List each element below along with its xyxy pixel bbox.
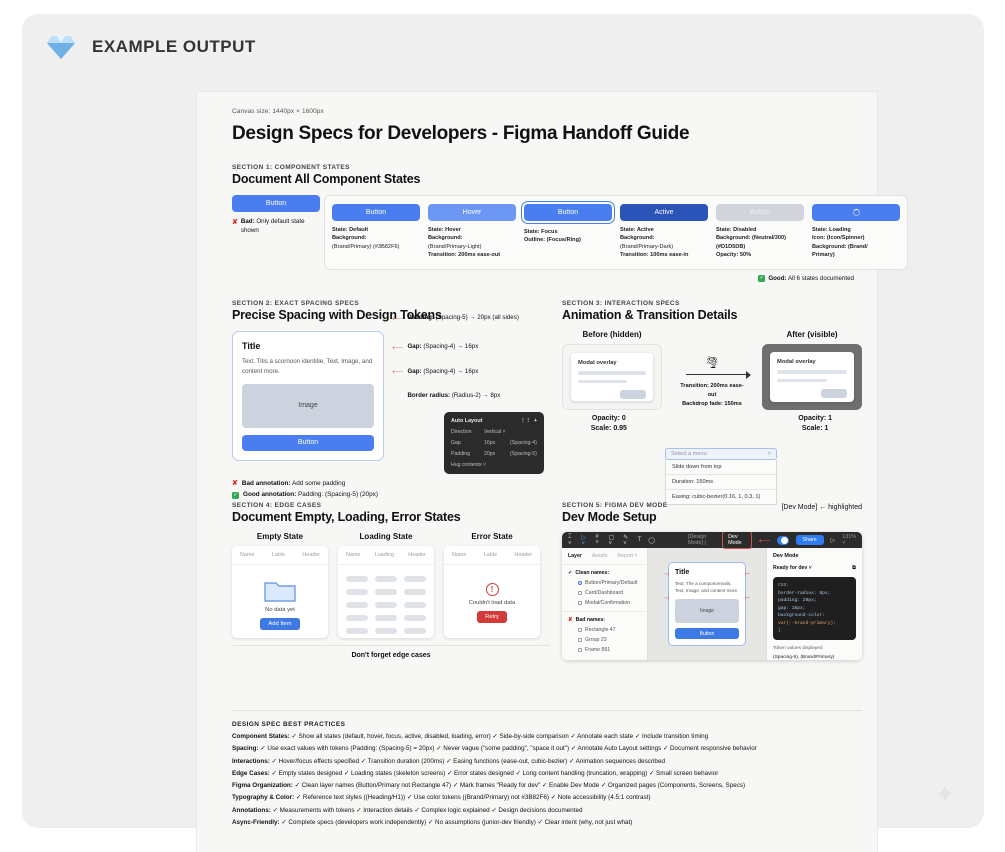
layer-item[interactable]: Frame 891 bbox=[568, 647, 641, 653]
pen-tool-icon[interactable]: ✎ ˅ bbox=[623, 534, 630, 547]
column-header: Header bbox=[302, 552, 320, 558]
state-line: Background: bbox=[332, 234, 420, 242]
al-token: (Spacing-5) bbox=[510, 451, 537, 457]
state-line: Opacity: 50% bbox=[716, 251, 804, 259]
after-opacity: Opacity: 1 bbox=[768, 414, 862, 424]
zoom-level[interactable]: 131% ˅ bbox=[842, 534, 856, 546]
annotation-text: (Spacing-5) → 20px (all sides) bbox=[436, 314, 519, 321]
inspect-panel: Dev Mode Ready for dev ˅ ⧉ CSS: border-r… bbox=[766, 548, 862, 660]
annotation-bold: Gap: bbox=[407, 368, 421, 375]
auto-layout-row: Direction Vertical ˅ bbox=[451, 429, 537, 435]
error-text: Couldn't load data bbox=[469, 600, 516, 606]
best-practice-line: Typography & Color: ✓ Reference text sty… bbox=[232, 792, 862, 804]
skeleton-bar bbox=[578, 380, 627, 384]
modal-comparison: Before (hidden) Modal overlay 🌪 bbox=[562, 330, 862, 410]
external-link-icon[interactable]: ⧉ bbox=[852, 565, 856, 572]
edge-col-empty: Empty State Name Lable Header bbox=[232, 532, 328, 638]
bad-annotation-note: ✘ Bad annotation: Add some padding bbox=[232, 478, 378, 490]
demo-card-title: Title bbox=[242, 341, 374, 351]
select-placeholder: Select a menu bbox=[671, 451, 707, 457]
annotation-row: ⟵ Gap: (Spacing-4) → 16px bbox=[392, 342, 552, 353]
add-item-button[interactable]: Add Item bbox=[260, 618, 299, 630]
figma-logo-icon[interactable]: ⌶ ˅ bbox=[568, 534, 574, 547]
section3-title: Animation & Transition Details bbox=[562, 308, 862, 322]
code-line: var(--brand-primary); bbox=[778, 620, 851, 628]
backdrop-fade: Backdrop fade: 150ms bbox=[678, 400, 746, 409]
x-mark-icon: ✘ bbox=[568, 617, 573, 623]
al-value[interactable]: Vertical ˅ bbox=[484, 429, 510, 435]
note-text: Add some padding bbox=[292, 480, 345, 487]
state-button-focus[interactable]: Button bbox=[524, 204, 612, 221]
x-mark-icon: ✘ bbox=[232, 478, 238, 490]
best-practice-line: Component States: ✓ Show all states (def… bbox=[232, 731, 862, 743]
best-practice-line: Spacing: ✓ Use exact values with tokens … bbox=[232, 743, 862, 755]
demo-card-button[interactable]: Button bbox=[242, 435, 374, 451]
skeleton-bar bbox=[777, 379, 827, 383]
best-practice-line: Figma Organization: ✓ Clean layer names … bbox=[232, 780, 862, 792]
select-option[interactable]: Slide down from top bbox=[666, 460, 776, 475]
arrow-left-icon: ⟵ bbox=[392, 366, 403, 377]
auto-layout-icons[interactable]: ⋮⋮ + bbox=[520, 418, 537, 424]
before-modal-title: Modal overlay bbox=[578, 360, 646, 366]
skeleton-row bbox=[346, 602, 426, 608]
canvas-card-text: Text. The a componormalis, Text, Image, … bbox=[675, 580, 739, 595]
al-value[interactable]: 20px bbox=[484, 451, 510, 457]
spacing-demo-card: Title Text. Titis a scornoon identitie, … bbox=[232, 331, 384, 461]
after-scale: Scale: 1 bbox=[768, 424, 862, 434]
before-label: Before (hidden) bbox=[562, 330, 662, 339]
code-line: } bbox=[778, 627, 851, 635]
canvas-size-label: Canvas size: 1440px × 1600px bbox=[197, 92, 877, 115]
table-header: Name Loading Header bbox=[338, 546, 434, 565]
section3-kicker: SECTION 3: INTERACTION SPECS bbox=[562, 300, 862, 307]
state-line: State: Default bbox=[332, 226, 420, 234]
note-bold: Bad annotation: bbox=[242, 480, 291, 487]
note-bold: Good annotation: bbox=[243, 491, 296, 498]
bad-note-bold: Bad: bbox=[241, 218, 255, 225]
check-icon: ✓ bbox=[758, 275, 765, 282]
loading-state-card: Name Loading Header bbox=[338, 546, 434, 638]
column-header: Name bbox=[346, 552, 360, 558]
select-options: Slide down from top Duration: 150ms Easi… bbox=[665, 460, 777, 505]
good-note-text: All 6 states documented bbox=[788, 275, 854, 282]
state-line: Icon: (Icon/Spinner) bbox=[812, 234, 900, 242]
section1-kicker: SECTION 1: COMPONENT STATES bbox=[232, 164, 862, 171]
state-meta-disabled: State: Disabled Background: (Neutral/300… bbox=[716, 226, 804, 260]
error-state-label: Error State bbox=[444, 532, 540, 541]
spacing-notes: ✘ Bad annotation: Add some padding ✓ Goo… bbox=[232, 478, 378, 501]
column-header: Lable bbox=[272, 552, 285, 558]
annotation-row: ⟵ Gap: (Spacing-4) → 16px bbox=[392, 366, 552, 377]
ready-for-dev-label: Ready for dev ˅ bbox=[773, 565, 812, 572]
after-modal: Modal overlay bbox=[770, 352, 854, 402]
before-modal: Modal overlay bbox=[571, 353, 653, 401]
edge-case-grid: Empty State Name Lable Header bbox=[232, 532, 550, 638]
state-button-disabled: Button bbox=[716, 204, 804, 221]
page-title: Design Specs for Developers - Figma Hand… bbox=[197, 115, 877, 145]
section-interaction-specs: SECTION 3: INTERACTION SPECS Animation &… bbox=[562, 300, 862, 434]
select-field[interactable]: Select a menu ˅ bbox=[665, 448, 777, 460]
state-button-loading[interactable] bbox=[812, 204, 900, 221]
layer-item[interactable]: Modal/Confirmation bbox=[568, 600, 641, 606]
skeleton-row bbox=[346, 628, 426, 634]
state-line: State: Loading bbox=[812, 226, 900, 234]
after-label: After (visible) bbox=[762, 330, 862, 339]
column-header: Name bbox=[452, 552, 466, 558]
canvas-card-title: Title bbox=[675, 569, 739, 576]
chevron-down-icon: ˅ bbox=[768, 451, 771, 457]
table-header: Name Lable Header bbox=[232, 546, 328, 565]
figma-toolbar: ⌶ ˅ ▷ ˅ # ˅ ▢ ˅ ✎ ˅ T ◯ [Design Mode] | … bbox=[562, 532, 862, 548]
token-note-value: (Spacing-5), (Brand/Primary) bbox=[773, 654, 856, 660]
transition-spec: Transition: 200ms ease-out Backdrop fade… bbox=[678, 382, 746, 409]
dev-mode-highlight-note: [Dev Mode] ← highlighted bbox=[781, 504, 862, 511]
state-meta-hover: State: Hover Background: (Brand/Primary-… bbox=[428, 226, 516, 260]
state-cell-disabled: Button State: Disabled Background: (Neut… bbox=[716, 204, 804, 260]
edge-cases-footer: Don't forget edge cases bbox=[232, 645, 550, 659]
arrow-left-icon: ⟵ bbox=[392, 313, 403, 324]
token-note-title: Token values displayed bbox=[773, 645, 856, 653]
figma-canvas[interactable]: ⊣ ⊣ ⊢ ⊢ Title Text. The a componormalis,… bbox=[648, 548, 766, 660]
layers-panel: Layer Assets Report ˅ ✓ Clean names: But… bbox=[562, 548, 648, 660]
layer-item[interactable]: Card/Dashboard bbox=[568, 590, 641, 596]
comment-tool-icon[interactable]: ◯ bbox=[648, 537, 655, 544]
section-component-states: SECTION 1: COMPONENT STATES Document All… bbox=[232, 164, 862, 282]
skeleton-bar bbox=[777, 370, 847, 374]
al-label: Padding bbox=[451, 451, 484, 457]
auto-layout-panel: Auto Layout ⋮⋮ + Direction Vertical ˅ Ga… bbox=[444, 412, 544, 474]
after-modal-title: Modal overlay bbox=[777, 359, 847, 365]
section1-title: Document All Component States bbox=[232, 172, 862, 186]
loading-state-label: Loading State bbox=[338, 532, 434, 541]
check-icon: ✓ bbox=[568, 570, 572, 576]
text-tool-icon[interactable]: T bbox=[638, 537, 642, 543]
error-state-card: Name Lable Header ! Couldn't load data R… bbox=[444, 546, 540, 638]
state-cell-default: Button State: Default Background: (Brand… bbox=[332, 204, 420, 260]
column-header: Name bbox=[240, 552, 254, 558]
state-line: Primary) bbox=[812, 251, 900, 259]
code-line: border-radius: 8px; bbox=[778, 590, 851, 598]
dev-mode-tab[interactable]: Dev Mode bbox=[722, 532, 752, 549]
clean-names-title: ✓ Clean names: bbox=[568, 570, 641, 576]
section4-kicker: SECTION 4: EDGE CASES bbox=[232, 502, 550, 509]
column-header: Header bbox=[514, 552, 532, 558]
skeleton-bar bbox=[578, 371, 646, 375]
move-tool-icon[interactable]: ▷ ˅ bbox=[581, 534, 588, 547]
edge-col-loading: Loading State Name Loading Header bbox=[338, 532, 434, 638]
best-practice-line: Async-Friendly: ✓ Complete specs (develo… bbox=[232, 817, 862, 829]
section4-title: Document Empty, Loading, Error States bbox=[232, 510, 550, 524]
state-line: State: Hover bbox=[428, 226, 516, 234]
best-practice-line: Interactions: ✓ Hover/focus effects spec… bbox=[232, 756, 862, 768]
annotation-text: (Radius-2) → 8px bbox=[452, 392, 501, 399]
good-note-row: ✓ Good: All 6 states documented bbox=[232, 275, 862, 282]
column-header: Loading bbox=[375, 552, 394, 558]
state-line: Background: bbox=[428, 234, 516, 242]
design-sheet: Canvas size: 1440px × 1600px Design Spec… bbox=[197, 92, 877, 852]
skeleton-row bbox=[346, 615, 426, 621]
after-modal-shell: Modal overlay bbox=[762, 344, 862, 410]
gem-icon bbox=[46, 34, 76, 60]
figma-window: ⌶ ˅ ▷ ˅ # ˅ ▢ ˅ ✎ ˅ T ◯ [Design Mode] | … bbox=[562, 532, 862, 660]
empty-state-label: Empty State bbox=[232, 532, 328, 541]
state-line: Outline: (Focus/Ring) bbox=[524, 236, 612, 244]
skeleton-row bbox=[346, 576, 426, 582]
loading-body bbox=[338, 565, 434, 638]
auto-layout-header: Auto Layout ⋮⋮ + bbox=[451, 418, 537, 424]
code-line: gap: 16px; bbox=[778, 605, 851, 613]
annotation-bold: Padding: bbox=[407, 314, 433, 321]
error-body: ! Couldn't load data Retry bbox=[444, 565, 540, 631]
annotation-row: ⟵ Padding: (Spacing-5) → 20px (all sides… bbox=[392, 313, 552, 324]
auto-layout-row: Hug contents ˅ bbox=[451, 462, 537, 468]
figma-body: Layer Assets Report ˅ ✓ Clean names: But… bbox=[562, 548, 862, 660]
column-header: Header bbox=[408, 552, 426, 558]
best-practices-section: DESIGN SPEC BEST PRACTICES Component Sta… bbox=[232, 710, 862, 829]
topbar: EXAMPLE OUTPUT bbox=[22, 14, 984, 60]
x-mark-icon: ✘ bbox=[232, 218, 238, 236]
state-line: State: Disabled bbox=[716, 226, 804, 234]
section5-title: Dev Mode Setup bbox=[562, 510, 862, 524]
state-line: Background: (Neutral/300) bbox=[716, 234, 804, 242]
al-value[interactable]: 16px bbox=[484, 440, 510, 446]
spinner-icon bbox=[853, 209, 860, 216]
al-token: (Spacing-4) bbox=[510, 440, 537, 446]
before-scale: Scale: 0.95 bbox=[562, 424, 656, 434]
state-line: Transition: 100ms ease-in bbox=[620, 251, 708, 259]
state-button-active[interactable]: Active bbox=[620, 204, 708, 221]
ready-for-dev-row[interactable]: Ready for dev ˅ ⧉ bbox=[773, 565, 856, 572]
clean-names-group: ✓ Clean names: Button/Primary/Default Ca… bbox=[562, 565, 647, 612]
app-background: EXAMPLE OUTPUT Canvas size: 1440px × 160… bbox=[22, 14, 984, 828]
measurement-marker-icon: ⊣ bbox=[664, 595, 669, 602]
auto-layout-row: Padding 20px (Spacing-5) bbox=[451, 451, 537, 457]
after-column: After (visible) Modal overlay bbox=[762, 330, 862, 410]
tab-assets[interactable]: Assets bbox=[592, 553, 608, 559]
good-note-bold: Good: bbox=[768, 275, 786, 282]
state-line: Background: (Brand/ bbox=[812, 243, 900, 251]
state-cell-focus: Button State: Focus Outline: (Focus/Ring… bbox=[524, 204, 612, 260]
arrow-left-icon: ⟵ bbox=[392, 342, 403, 353]
best-practices-heading: DESIGN SPEC BEST PRACTICES bbox=[232, 721, 862, 728]
measurement-marker-icon: ⊢ bbox=[745, 571, 750, 578]
layer-item[interactable]: Group 23 bbox=[568, 637, 641, 643]
transition-middle: 🌪 Transition: 200ms ease-out Backdrop fa… bbox=[678, 330, 746, 409]
state-meta-default: State: Default Background: (Brand/Primar… bbox=[332, 226, 420, 251]
state-line: State: Focus bbox=[524, 228, 612, 236]
layers-tabs: Layer Assets Report ˅ bbox=[562, 548, 647, 565]
folder-icon bbox=[263, 577, 297, 603]
frame-tool-icon[interactable]: # ˅ bbox=[595, 534, 601, 546]
dev-mode-toggle[interactable] bbox=[777, 536, 789, 545]
state-cell-loading: State: Loading Icon: (Icon/Spinner) Back… bbox=[812, 204, 900, 260]
modal-action-button[interactable] bbox=[821, 389, 847, 398]
state-line: State: Active bbox=[620, 226, 708, 234]
state-line: (Brand/Primary-Dark) bbox=[620, 243, 708, 251]
best-practice-line: Annotations: ✓ Measurements with tokens … bbox=[232, 805, 862, 817]
tab-layer[interactable]: Layer bbox=[568, 553, 582, 559]
section-spacing-specs: SECTION 2: EXACT SPACING SPECS Precise S… bbox=[232, 300, 550, 461]
bad-default-button[interactable]: Button bbox=[232, 195, 320, 212]
sparkle-icon: ✦ bbox=[934, 779, 956, 810]
select-option[interactable]: Duration: 150ms bbox=[666, 475, 776, 490]
arrow-left-icon: ⟵ bbox=[759, 536, 770, 545]
canvas-card-button[interactable]: Button bbox=[675, 628, 739, 639]
auto-layout-title: Auto Layout bbox=[451, 418, 482, 424]
animation-icon: 🌪 bbox=[678, 356, 746, 369]
inspect-panel-title: Dev Mode bbox=[773, 553, 856, 559]
topbar-title: EXAMPLE OUTPUT bbox=[92, 37, 256, 57]
retry-button[interactable]: Retry bbox=[477, 611, 507, 623]
state-meta-loading: State: Loading Icon: (Icon/Spinner) Back… bbox=[812, 226, 900, 260]
layer-item[interactable]: Rectangle 47 bbox=[568, 627, 641, 633]
state-meta-active: State: Active Background: (Brand/Primary… bbox=[620, 226, 708, 260]
section2-kicker: SECTION 2: EXACT SPACING SPECS bbox=[232, 300, 550, 307]
css-code-block[interactable]: CSS: border-radius: 8px; padding: 20px; … bbox=[773, 577, 856, 640]
state-line: (Brand/Primary-Light) bbox=[428, 243, 516, 251]
demo-card-text: Text. Titis a scornoon identitie, Text, … bbox=[242, 357, 374, 377]
design-mode-label[interactable]: [Design Mode] | bbox=[688, 534, 715, 546]
annotation-text: (Spacing-4) → 16px bbox=[423, 368, 478, 375]
skeleton-row bbox=[346, 589, 426, 595]
before-modal-shell: Modal overlay bbox=[562, 344, 662, 410]
layer-item[interactable]: Button/Primary/Default bbox=[568, 580, 641, 586]
good-annotation-note: ✓ Good annotation: Padding: (Spacing-5) … bbox=[232, 490, 378, 501]
state-line: Background: bbox=[620, 234, 708, 242]
best-practice-line: Edge Cases: ✓ Empty states designed ✓ Lo… bbox=[232, 768, 862, 780]
state-line: (Brand/Primary) (#3B82F6) bbox=[332, 243, 420, 251]
modal-action-button[interactable] bbox=[620, 390, 646, 399]
transition-duration: Transition: 200ms ease-out bbox=[678, 382, 746, 400]
annotation-bold: Border radius: bbox=[407, 392, 450, 399]
section-edge-cases: SECTION 4: EDGE CASES Document Empty, Lo… bbox=[232, 502, 550, 659]
present-icon[interactable]: ▷ bbox=[831, 537, 836, 544]
column-header: Lable bbox=[484, 552, 497, 558]
demo-card-image: Image bbox=[242, 384, 374, 428]
section-dev-mode: SECTION 5: FIGMA DEV MODE Dev Mode Setup… bbox=[562, 502, 862, 660]
before-opacity: Opacity: 0 bbox=[562, 414, 656, 424]
state-cell-hover: Hover State: Hover Background: (Brand/Pr… bbox=[428, 204, 516, 260]
arrow-right-icon bbox=[678, 369, 746, 379]
states-box: Button State: Default Background: (Brand… bbox=[324, 195, 908, 270]
empty-text: No data yet bbox=[265, 607, 295, 613]
canvas-component-card[interactable]: ⊣ ⊣ ⊢ ⊢ Title Text. The a componormalis,… bbox=[668, 562, 746, 647]
before-column: Before (hidden) Modal overlay bbox=[562, 330, 662, 410]
before-metrics: Opacity: 0 Scale: 0.95 bbox=[562, 414, 656, 434]
empty-body: No data yet Add Item bbox=[232, 565, 328, 638]
share-button[interactable]: Share bbox=[796, 535, 824, 545]
code-line: background-color: bbox=[778, 612, 851, 620]
error-icon: ! bbox=[486, 583, 499, 596]
tab-report[interactable]: Report ˅ bbox=[617, 553, 637, 559]
annotation-bold: Gap: bbox=[407, 343, 421, 350]
bad-example-column: Button ✘ Bad: Only default state shown bbox=[232, 195, 324, 270]
empty-state-card: Name Lable Header No data yet Add I bbox=[232, 546, 328, 638]
code-line: CSS: bbox=[778, 582, 851, 590]
check-icon: ✓ bbox=[232, 492, 239, 499]
al-label[interactable]: Hug contents ˅ bbox=[451, 462, 486, 468]
state-cell-active: Active State: Active Background: (Brand/… bbox=[620, 204, 708, 260]
note-text: Padding: (Spacing-5) (20px) bbox=[298, 491, 378, 498]
canvas-card-image: Image bbox=[675, 599, 739, 623]
animation-select-menu[interactable]: Select a menu ˅ Slide down from top Dura… bbox=[665, 448, 777, 505]
annotation-text: (Spacing-4) → 16px bbox=[423, 343, 478, 350]
spacing-annotations: ⟵ Padding: (Spacing-5) → 20px (all sides… bbox=[392, 309, 552, 402]
al-label: Gap bbox=[451, 440, 484, 446]
measurement-marker-icon: ⊢ bbox=[745, 595, 750, 602]
bad-names-group: ✘ Bad names: Rectangle 47 Group 23 Frame… bbox=[562, 612, 647, 658]
after-metrics: Opacity: 1 Scale: 1 bbox=[768, 414, 862, 434]
auto-layout-row: Gap 16px (Spacing-4) bbox=[451, 440, 537, 446]
shape-tool-icon[interactable]: ▢ ˅ bbox=[608, 534, 616, 547]
state-meta-focus: State: Focus Outline: (Focus/Ring) bbox=[524, 228, 612, 245]
state-line: Transition: 200ms ease-out bbox=[428, 251, 516, 259]
state-button-hover[interactable]: Hover bbox=[428, 204, 516, 221]
state-button-default[interactable]: Button bbox=[332, 204, 420, 221]
opacity-row: Opacity: 0 Scale: 0.95 Opacity: 1 Scale:… bbox=[562, 414, 862, 434]
state-line: (#D1D5DB) bbox=[716, 243, 804, 251]
bad-names-title: ✘ Bad names: bbox=[568, 617, 641, 623]
table-header: Name Lable Header bbox=[444, 546, 540, 565]
al-label: Direction bbox=[451, 429, 484, 435]
bad-note: ✘ Bad: Only default state shown bbox=[232, 218, 316, 236]
code-line: padding: 20px; bbox=[778, 597, 851, 605]
annotation-row: ⟵ Border radius: (Radius-2) → 8px bbox=[392, 391, 552, 402]
measurement-marker-icon: ⊣ bbox=[664, 571, 669, 578]
edge-col-error: Error State Name Lable Header ! Couldn't… bbox=[444, 532, 540, 638]
